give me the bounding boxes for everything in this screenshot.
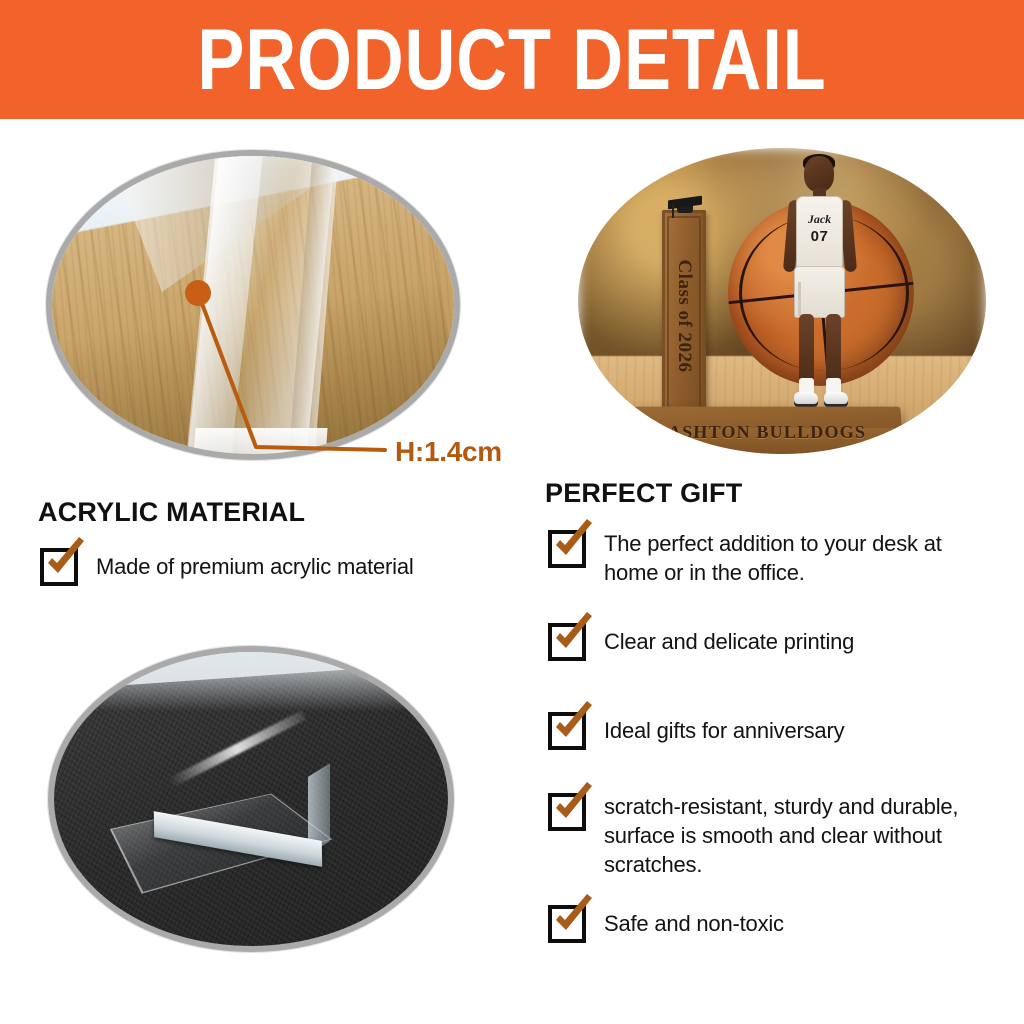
checkbox-checked-icon[interactable] [548,623,586,661]
feature-item: The perfect addition to your desk at hom… [548,530,1000,587]
feature-text: Made of premium acrylic material [96,552,414,581]
basketball-trophy-photo: Class of 2026 Jack 07 [578,148,986,454]
dimension-label: H:1.4cm [395,436,502,468]
shorts-split [798,282,801,316]
feature-item: scratch-resistant, sturdy and durable, s… [548,793,1000,879]
feature-item: Safe and non-toxic [548,905,1000,943]
product-detail-page: PRODUCT DETAIL Class of 2026 [0,0,1024,1024]
post-class-text: Class of 2026 [673,259,695,372]
acrylic-edge-photo [46,150,460,460]
jersey-name-text: Jack [796,212,843,227]
section-title-perfect-gift: PERFECT GIFT [545,478,742,509]
feature-text: Safe and non-toxic [604,909,784,938]
cap-tassel [672,204,674,218]
checkbox-checked-icon[interactable] [548,712,586,750]
feature-item: Made of premium acrylic material [40,548,520,586]
player-jersey: Jack 07 [796,196,843,270]
background-highlight [54,652,448,711]
feature-text: Clear and delicate printing [604,627,854,656]
player-left-shoe [794,392,818,407]
acrylic-block [140,730,352,882]
acrylic-edge-scene [52,156,454,454]
graduation-cap-icon [668,198,702,210]
basketball-player-figure: Jack 07 [774,156,870,424]
base-team-text: ASHTON BULLDOGS [631,422,902,443]
engraved-wood-post: Class of 2026 [662,210,706,422]
player-shorts [794,266,845,318]
section-title-acrylic-material: ACRYLIC MATERIAL [38,497,305,528]
acrylic-block-scene [54,652,448,946]
player-head [804,156,834,192]
jersey-number-text: 07 [796,228,843,245]
feature-text: Ideal gifts for anniversary [604,716,844,745]
trophy-wood-base: ASHTON BULLDOGS [630,407,903,454]
trophy-scene: Class of 2026 Jack 07 [578,148,986,454]
checkbox-checked-icon[interactable] [548,793,586,831]
page-title: PRODUCT DETAIL [92,14,932,106]
feature-text: scratch-resistant, sturdy and durable, s… [604,792,1000,879]
feature-item: Clear and delicate printing [548,623,1000,661]
player-right-shoe [824,392,848,407]
checkbox-checked-icon[interactable] [548,530,586,568]
checkbox-checked-icon[interactable] [40,548,78,586]
feature-text: The perfect addition to your desk at hom… [604,529,1000,587]
feature-item: Ideal gifts for anniversary [548,712,1000,750]
acrylic-base-highlight [192,428,327,460]
checkbox-checked-icon[interactable] [548,905,586,943]
acrylic-block-photo [48,646,454,952]
header-banner: PRODUCT DETAIL [0,0,1024,119]
